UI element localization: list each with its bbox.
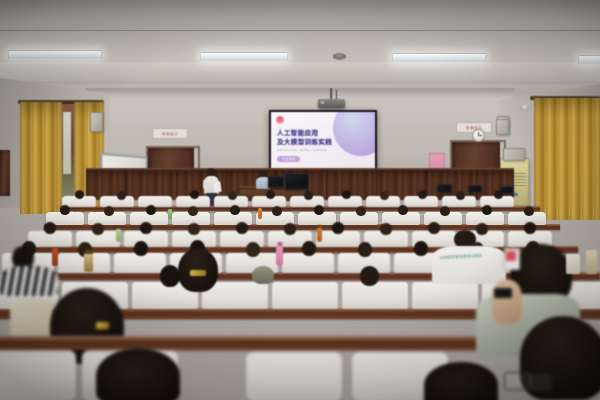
attendee-head [60,205,70,215]
attendee-head [228,191,237,200]
attendee-head [342,190,351,199]
ceiling-strip-light-1 [8,50,102,59]
attendee-head [332,222,344,234]
attendee-head [246,242,260,257]
projection-screen: 人工智能应用 及大模型训练实践 ARTIFICIAL INTELLIGENCE … [269,110,377,171]
attendee-head [188,206,198,216]
ac-top-box [503,148,525,161]
attendee-head [75,190,84,199]
attendee-head-cap [252,266,274,284]
attendee-head [356,206,366,216]
seat-back [412,282,478,309]
attendee-head [134,241,148,256]
door-far-left[interactable] [0,150,10,196]
curtain-right-panel [534,98,600,220]
attendee-head [414,241,428,256]
attendee-head [266,190,275,199]
attendee-head [190,190,199,199]
attendee-head [358,242,372,257]
attendee-head [117,191,126,200]
attendee-head [524,222,536,234]
attendee-head [398,205,408,215]
attendee-foreground-right-head [424,362,498,400]
attendee-head [146,205,156,215]
attendee-head [380,191,389,200]
attendee-head [284,223,296,235]
attendee-head [236,222,248,234]
host-monitor-stand [294,187,299,190]
attendee-foreground-left-head [96,348,180,400]
attendee-head [92,223,104,235]
projector-lens-icon [320,101,325,104]
presenter-arm [203,179,208,190]
water-bottle [52,248,58,266]
attendee-head [428,222,440,234]
slide-subtitle: ARTIFICIAL INTELLIGENCE [277,148,327,152]
ceiling-beam [0,62,600,82]
jar-container [84,253,93,272]
ledge-monitor-b [468,185,482,193]
wall-panel-right [496,119,509,135]
presenter-papers [213,182,221,193]
attendee-head [272,206,282,216]
seat-back [272,282,338,309]
seat-back [138,196,172,207]
ceiling-strip-light-3 [392,53,486,62]
attendee-head [188,223,200,235]
attendee-head [380,223,392,235]
hair-clip-icon [96,322,109,329]
water-bottle [116,229,121,242]
ceiling-strip-light-2 [200,52,288,61]
slide-title-line1: 人工智能应用 [277,130,318,138]
water-bottle [168,209,172,219]
cup-on-rail [566,254,580,274]
ledge-monitor-a [437,184,452,193]
water-bottle [317,228,322,242]
attendee-head [104,206,114,216]
attendee-head [524,206,534,216]
smoke-detector-icon [333,53,346,59]
window-light-left [63,112,71,174]
plaque-left-door: 安全出口 [152,128,188,139]
attendee-head [482,205,492,215]
lecture-hall-photo: 安全出口 安全出口 [0,0,600,400]
attendee-head [160,265,180,287]
dome-camera-icon [520,105,529,111]
wrist-watch [494,288,512,298]
seat-back [342,282,408,309]
curtain-left-panel-a [20,102,62,214]
attendee-head [314,205,324,215]
wall-speaker-left [90,112,103,132]
attendee-head [360,266,379,286]
wall-shadow [86,88,514,98]
water-bottle [258,208,262,219]
attendee-head [230,205,240,215]
ceiling-strip-light-4 [578,55,600,64]
slide-title-line2: 及大模型训练实践 [277,139,332,147]
water-bottle [586,250,597,274]
attendee-head [476,223,488,235]
water-bottle-pink [276,246,283,266]
wall-clock [472,129,485,142]
seat-back [282,253,334,273]
slide-surface: 人工智能应用 及大模型训练实践 ARTIFICIAL INTELLIGENCE … [271,112,375,169]
seat-back [114,253,166,273]
attendee-head [44,222,56,234]
plaque-left-text: 安全出口 [162,131,178,136]
attendee-head [440,206,450,216]
ceiling [0,0,600,92]
seat-back [246,352,342,400]
slide-decor-blob [333,112,375,156]
flower-logo-icon [276,116,284,124]
attendee-head [302,241,316,256]
attendee-torso-white [432,246,506,284]
podium-monitor-2 [268,176,284,188]
hair-clip-icon [190,270,206,276]
attendee-head [304,191,313,200]
slide-pill-label: 专题讲座 [277,156,300,162]
seat-back [0,350,76,400]
attendee-arm [492,280,522,324]
attendee-head [456,191,465,200]
attendee-head [494,190,503,199]
attendee-torso-striped [0,266,58,296]
attendee-head [418,190,427,199]
eyeglasses [528,374,552,391]
attendee-head [140,222,152,234]
